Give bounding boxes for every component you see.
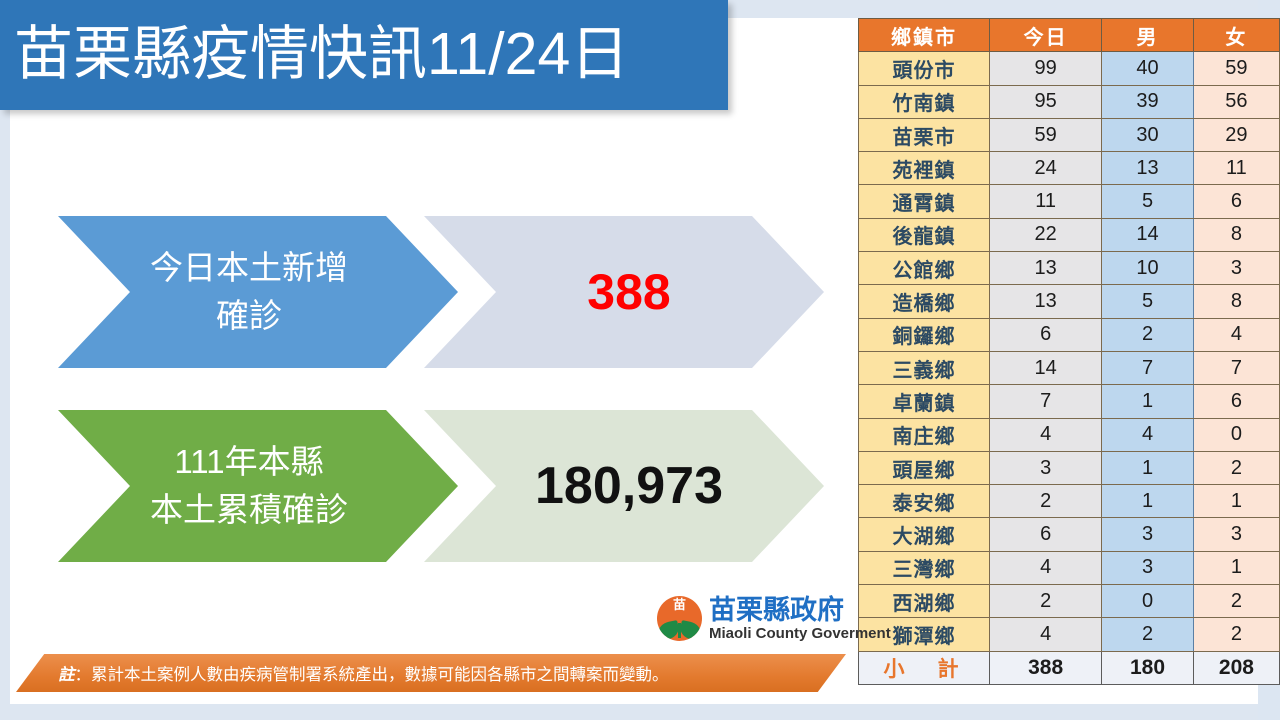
slide: 苗栗縣疫情快訊11/24日 388 今日本土新增 確診 180,973 111年…: [0, 0, 1280, 720]
male-count-cell: 1: [1102, 385, 1194, 418]
male-count-cell: 0: [1102, 585, 1194, 618]
leaf-right-icon: [678, 620, 702, 641]
township-name-cell: 銅鑼鄉: [859, 318, 990, 351]
table-row: 西湖鄉202: [859, 585, 1280, 618]
table-row: 南庄鄉440: [859, 418, 1280, 451]
male-count-cell: 14: [1102, 218, 1194, 251]
county-emblem-icon: 苗: [657, 596, 702, 641]
today-label: 今日本土新增 確診: [58, 244, 458, 340]
female-count-cell: 8: [1193, 285, 1279, 318]
township-name-cell: 泰安鄉: [859, 485, 990, 518]
township-name-cell: 後龍鎮: [859, 218, 990, 251]
table-row: 苑裡鎮241311: [859, 152, 1280, 185]
today-count-cell: 3: [990, 451, 1102, 484]
township-name-cell: 苑裡鎮: [859, 152, 990, 185]
total-male-cell: 180: [1102, 651, 1194, 684]
table-header: 鄉鎮市 今日 男 女: [859, 19, 1280, 52]
township-name-cell: 頭屋鄉: [859, 451, 990, 484]
leaf-left-icon: [657, 620, 681, 641]
female-count-cell: 8: [1193, 218, 1279, 251]
cumulative-label-line2: 本土累積確診: [58, 486, 440, 534]
township-name-cell: 三灣鄉: [859, 551, 990, 584]
male-count-cell: 7: [1102, 351, 1194, 384]
table-row: 卓蘭鎮716: [859, 385, 1280, 418]
male-count-cell: 30: [1102, 118, 1194, 151]
cumulative-label: 111年本縣 本土累積確診: [58, 438, 458, 534]
table-row: 三灣鄉431: [859, 551, 1280, 584]
township-name-cell: 大湖鄉: [859, 518, 990, 551]
summary-row-today: 388 今日本土新增 確診: [58, 216, 768, 368]
male-count-cell: 1: [1102, 485, 1194, 518]
today-value: 388: [424, 263, 824, 321]
table-body: 頭份市994059竹南鎮953956苗栗市593029苑裡鎮241311通霄鎮1…: [859, 52, 1280, 685]
logo-wordmark: 苗栗縣政府 Miaoli County Goverment: [709, 597, 891, 641]
female-count-cell: 4: [1193, 318, 1279, 351]
table-row: 頭屋鄉312: [859, 451, 1280, 484]
today-count-cell: 22: [990, 218, 1102, 251]
male-count-cell: 2: [1102, 318, 1194, 351]
cumulative-value-chevron: 180,973: [424, 410, 824, 562]
today-count-cell: 14: [990, 351, 1102, 384]
today-value-chevron: 388: [424, 216, 824, 368]
township-name-cell: 頭份市: [859, 52, 990, 85]
logo-name-english: Miaoli County Goverment: [709, 626, 891, 641]
female-count-cell: 2: [1193, 451, 1279, 484]
today-count-cell: 2: [990, 585, 1102, 618]
female-count-cell: 2: [1193, 618, 1279, 651]
table-row: 銅鑼鄉624: [859, 318, 1280, 351]
table-row: 頭份市994059: [859, 52, 1280, 85]
today-count-cell: 7: [990, 385, 1102, 418]
female-count-cell: 56: [1193, 85, 1279, 118]
male-count-cell: 5: [1102, 285, 1194, 318]
total-today-cell: 388: [990, 651, 1102, 684]
male-count-cell: 10: [1102, 252, 1194, 285]
township-name-cell: 公館鄉: [859, 252, 990, 285]
today-count-cell: 6: [990, 318, 1102, 351]
table-row: 後龍鎮22148: [859, 218, 1280, 251]
footnote-text: 註：累計本土案例人數由疾病管制署系統產出，數據可能因各縣市之間轉案而變動。: [16, 661, 669, 685]
logo-name-chinese: 苗栗縣政府: [709, 597, 891, 624]
column-header-female: 女: [1193, 19, 1279, 52]
township-name-cell: 造橋鄉: [859, 285, 990, 318]
cumulative-label-chevron: 111年本縣 本土累積確診: [58, 410, 458, 562]
table-row: 造橋鄉1358: [859, 285, 1280, 318]
female-count-cell: 2: [1193, 585, 1279, 618]
township-name-cell: 竹南鎮: [859, 85, 990, 118]
cumulative-value: 180,973: [424, 456, 824, 516]
footnote-body: ：累計本土案例人數由疾病管制署系統產出，數據可能因各縣市之間轉案而變動。: [75, 666, 669, 684]
table-row: 大湖鄉633: [859, 518, 1280, 551]
today-count-cell: 4: [990, 618, 1102, 651]
title-banner: 苗栗縣疫情快訊11/24日: [0, 0, 728, 110]
male-count-cell: 5: [1102, 185, 1194, 218]
male-count-cell: 13: [1102, 152, 1194, 185]
table-row: 通霄鎮1156: [859, 185, 1280, 218]
today-count-cell: 99: [990, 52, 1102, 85]
today-count-cell: 59: [990, 118, 1102, 151]
cumulative-label-line1: 111年本縣: [58, 438, 440, 486]
township-name-cell: 三義鄉: [859, 351, 990, 384]
today-label-chevron: 今日本土新增 確診: [58, 216, 458, 368]
table-total-row: 小 計388180208: [859, 651, 1280, 684]
today-count-cell: 6: [990, 518, 1102, 551]
miaoli-government-logo: 苗 苗栗縣政府 Miaoli County Goverment: [657, 596, 891, 641]
township-name-cell: 南庄鄉: [859, 418, 990, 451]
column-header-male: 男: [1102, 19, 1194, 52]
table-row: 公館鄉13103: [859, 252, 1280, 285]
today-count-cell: 11: [990, 185, 1102, 218]
female-count-cell: 7: [1193, 351, 1279, 384]
page-frame-bottom: [0, 704, 1280, 720]
male-count-cell: 3: [1102, 551, 1194, 584]
today-count-cell: 13: [990, 252, 1102, 285]
female-count-cell: 6: [1193, 185, 1279, 218]
column-header-today: 今日: [990, 19, 1102, 52]
male-count-cell: 39: [1102, 85, 1194, 118]
today-label-line2: 確診: [58, 292, 440, 340]
today-count-cell: 4: [990, 551, 1102, 584]
today-count-cell: 24: [990, 152, 1102, 185]
female-count-cell: 11: [1193, 152, 1279, 185]
female-count-cell: 3: [1193, 518, 1279, 551]
male-count-cell: 3: [1102, 518, 1194, 551]
female-count-cell: 1: [1193, 551, 1279, 584]
footnote-prefix: 註: [58, 666, 75, 684]
table-row: 竹南鎮953956: [859, 85, 1280, 118]
stem-icon: [678, 623, 681, 638]
total-label-cell: 小 計: [859, 651, 990, 684]
table-header-row: 鄉鎮市 今日 男 女: [859, 19, 1280, 52]
footnote-banner: 註：累計本土案例人數由疾病管制署系統產出，數據可能因各縣市之間轉案而變動。: [16, 654, 846, 692]
today-count-cell: 4: [990, 418, 1102, 451]
female-count-cell: 6: [1193, 385, 1279, 418]
today-label-line1: 今日本土新增: [58, 244, 440, 292]
table-row: 獅潭鄉422: [859, 618, 1280, 651]
page-frame-left: [0, 18, 10, 704]
total-female-cell: 208: [1193, 651, 1279, 684]
today-count-cell: 95: [990, 85, 1102, 118]
table-row: 苗栗市593029: [859, 118, 1280, 151]
page-title: 苗栗縣疫情快訊11/24日: [14, 24, 629, 86]
township-name-cell: 通霄鎮: [859, 185, 990, 218]
table-row: 三義鄉1477: [859, 351, 1280, 384]
today-count-cell: 13: [990, 285, 1102, 318]
column-header-township: 鄉鎮市: [859, 19, 990, 52]
male-count-cell: 40: [1102, 52, 1194, 85]
female-count-cell: 3: [1193, 252, 1279, 285]
male-count-cell: 2: [1102, 618, 1194, 651]
township-name-cell: 卓蘭鎮: [859, 385, 990, 418]
summary-row-cumulative: 180,973 111年本縣 本土累積確診: [58, 410, 768, 562]
emblem-glyph: 苗: [657, 599, 702, 611]
township-name-cell: 苗栗市: [859, 118, 990, 151]
today-count-cell: 2: [990, 485, 1102, 518]
table-row: 泰安鄉211: [859, 485, 1280, 518]
female-count-cell: 1: [1193, 485, 1279, 518]
male-count-cell: 4: [1102, 418, 1194, 451]
female-count-cell: 29: [1193, 118, 1279, 151]
male-count-cell: 1: [1102, 451, 1194, 484]
township-case-table: 鄉鎮市 今日 男 女 頭份市994059竹南鎮953956苗栗市593029苑裡…: [858, 18, 1280, 685]
female-count-cell: 59: [1193, 52, 1279, 85]
female-count-cell: 0: [1193, 418, 1279, 451]
